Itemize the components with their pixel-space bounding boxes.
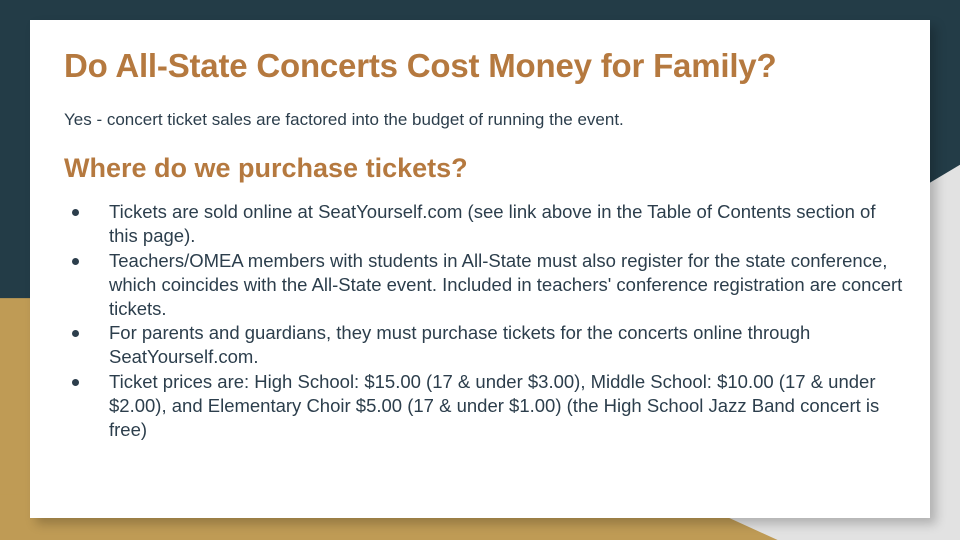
bullet-dot-icon <box>72 258 79 265</box>
slide-title: Do All-State Concerts Cost Money for Fam… <box>64 48 904 85</box>
slide-subtitle: Where do we purchase tickets? <box>64 153 904 184</box>
list-item-text: Tickets are sold online at SeatYourself.… <box>109 201 875 246</box>
content-card: Do All-State Concerts Cost Money for Fam… <box>30 20 930 518</box>
bullet-dot-icon <box>72 209 79 216</box>
list-item-text: Ticket prices are: High School: $15.00 (… <box>109 371 879 440</box>
list-item-text: Teachers/OMEA members with students in A… <box>109 250 902 319</box>
bullet-dot-icon <box>72 379 79 386</box>
bullet-list: Tickets are sold online at SeatYourself.… <box>56 200 904 442</box>
bullet-dot-icon <box>72 330 79 337</box>
list-item: Ticket prices are: High School: $15.00 (… <box>56 370 904 442</box>
list-item: For parents and guardians, they must pur… <box>56 321 904 369</box>
list-item: Tickets are sold online at SeatYourself.… <box>56 200 904 248</box>
presentation-slide: Do All-State Concerts Cost Money for Fam… <box>0 0 960 540</box>
list-item: Teachers/OMEA members with students in A… <box>56 249 904 321</box>
intro-paragraph: Yes - concert ticket sales are factored … <box>64 109 904 131</box>
list-item-text: For parents and guardians, they must pur… <box>109 322 810 367</box>
